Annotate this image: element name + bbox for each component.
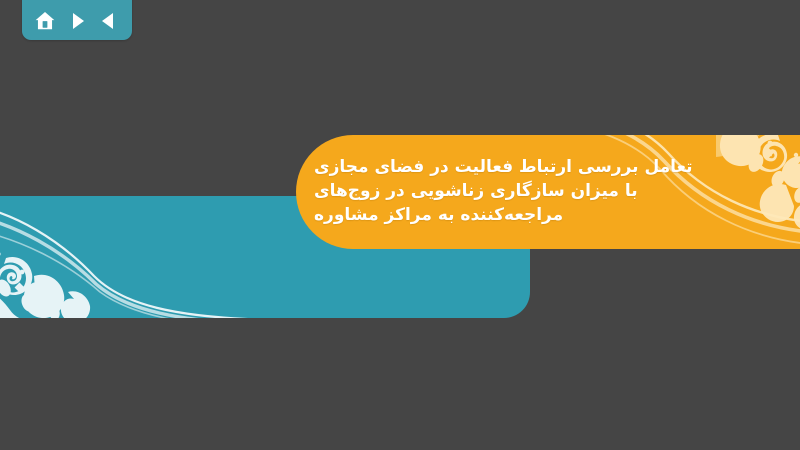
home-button[interactable] [33,9,57,33]
title-line-2: با میزان سازگاری زناشویی در زوج‌های [314,179,638,203]
arabesque-ornament-teal [0,196,296,318]
presentation-slide: تعامل بررسی ارتباط فعالیت در فضای مجازی … [0,0,800,450]
slide-navigation-bar [22,0,132,40]
triangle-left-icon [99,11,119,31]
title-line-3: مراجعه‌کننده به مراکز مشاوره [314,203,563,227]
orange-title-panel: تعامل بررسی ارتباط فعالیت در فضای مجازی … [296,135,800,249]
home-icon [34,10,56,32]
triangle-right-icon [67,11,87,31]
title-line-1: تعامل بررسی ارتباط فعالیت در فضای مجازی [314,155,693,179]
previous-slide-button[interactable] [97,9,121,33]
next-slide-button[interactable] [65,9,89,33]
slide-title: تعامل بررسی ارتباط فعالیت در فضای مجازی … [296,135,800,249]
